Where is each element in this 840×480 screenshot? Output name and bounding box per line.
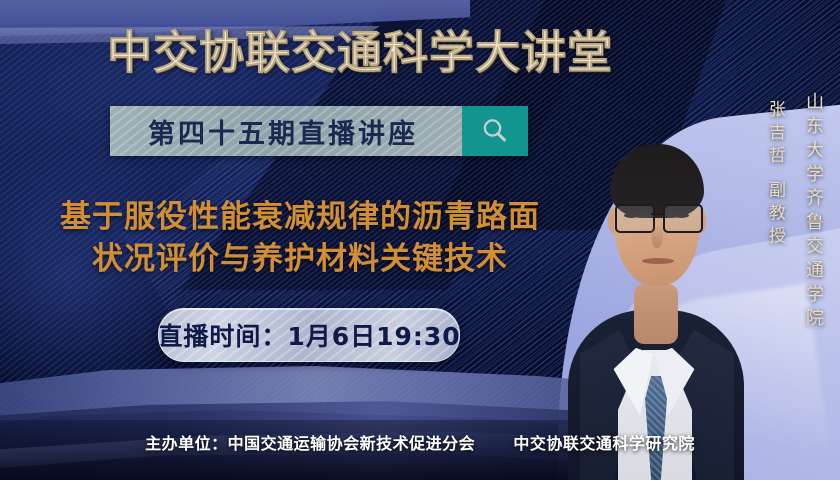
- episode-label: 第四十五期直播讲座: [148, 112, 424, 151]
- lecture-title-line-2: 状况评价与养护材料关键技术: [0, 238, 600, 280]
- speaker-name-title: 张吉哲 副教授: [763, 100, 788, 249]
- portrait-mouth: [642, 258, 674, 264]
- live-lecture-poster: 中交协联交通科学大讲堂 第四十五期直播讲座 基于服役性能衰减规律的沥青路面 状况…: [0, 0, 840, 480]
- episode-search-bar[interactable]: 第四十五期直播讲座: [110, 106, 528, 156]
- organizer-label: 主办单位：中国交通运输协会新技术促进分会: [145, 434, 475, 453]
- portrait-nose: [651, 224, 663, 248]
- portrait-lens-right: [663, 204, 703, 233]
- page-title: 中交协联交通科学大讲堂: [0, 16, 720, 81]
- search-button[interactable]: [462, 106, 528, 156]
- portrait-lens-left: [615, 204, 655, 233]
- lecture-title: 基于服役性能衰减规律的沥青路面 状况评价与养护材料关键技术: [0, 196, 600, 280]
- speaker-portrait: [566, 96, 746, 480]
- speaker-affiliation: 山东大学齐鲁交通学院: [800, 92, 826, 332]
- footer-organizers: 主办单位：中国交通运输协会新技术促进分会 中交协联交通科学研究院: [0, 430, 840, 454]
- co-organizer-label: 中交协联交通科学研究院: [513, 434, 695, 453]
- episode-search-field[interactable]: 第四十五期直播讲座: [110, 106, 462, 156]
- broadcast-time-badge: 直播时间：1月6日19:30: [158, 308, 460, 362]
- portrait-neck: [634, 284, 678, 344]
- broadcast-time-text: 直播时间：1月6日19:30: [158, 317, 460, 353]
- search-icon: [480, 116, 510, 146]
- lecture-title-line-1: 基于服役性能衰减规律的沥青路面: [60, 199, 540, 235]
